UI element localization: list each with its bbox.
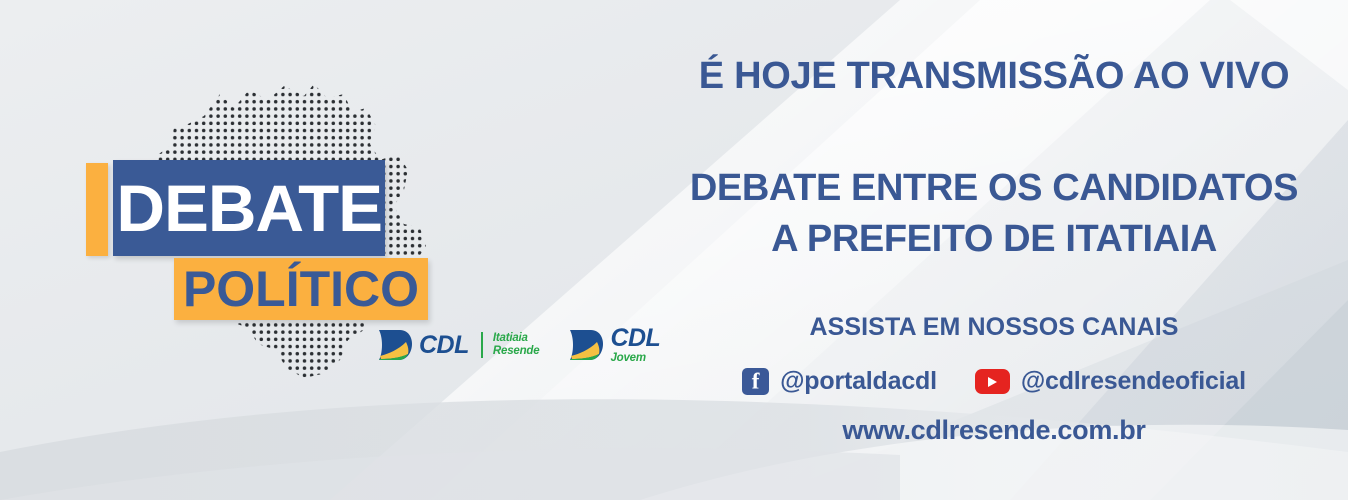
debate-title: DEBATE (116, 175, 382, 241)
headline-main-line1: DEBATE ENTRE OS CANDIDATOS (640, 163, 1348, 214)
orange-accent-bar (86, 163, 108, 256)
logo-divider (481, 332, 483, 358)
website-url[interactable]: www.cdlresende.com.br (640, 415, 1348, 446)
message-column: É HOJE TRANSMISSÃO AO VIVO DEBATE ENTRE … (640, 0, 1348, 500)
facebook-handle[interactable]: @portaldacdl (780, 367, 937, 396)
headline-main-line2: A PREFEITO DE ITATIAIA (640, 214, 1348, 265)
cdl-unit-line2: Resende (493, 345, 540, 358)
watch-call-to-action: ASSISTA EM NOSSOS CANAIS (640, 313, 1348, 342)
cdl-itatiaia-resende-logo[interactable]: CDL Itatiaia Resende (378, 328, 539, 362)
politico-subtitle: POLÍTICO (183, 264, 419, 314)
debate-logo-block: DEBATE POLÍTICO CDL Itatiaia Resende (0, 0, 640, 500)
cdl-flag-mark-icon (378, 328, 414, 362)
debate-title-band: DEBATE (113, 160, 385, 256)
headline-live: É HOJE TRANSMISSÃO AO VIVO (640, 56, 1348, 98)
youtube-handle[interactable]: @cdlresendeoficial (1021, 367, 1246, 396)
headline-main: DEBATE ENTRE OS CANDIDATOS A PREFEITO DE… (640, 163, 1348, 266)
cdl-wordmark: CDL (419, 333, 469, 358)
youtube-handle-item[interactable]: @cdlresendeoficial (975, 367, 1246, 396)
facebook-handle-item[interactable]: @portaldacdl (742, 367, 937, 396)
cdl-unit-line1: Itatiaia (493, 332, 528, 345)
youtube-icon[interactable] (975, 369, 1010, 394)
social-handles-row: @portaldacdl @cdlresendeoficial (640, 367, 1348, 396)
partner-logos: CDL Itatiaia Resende CDL Jovem (378, 326, 660, 365)
cdl-flag-mark-icon (569, 328, 605, 362)
politico-subtitle-band: POLÍTICO (174, 258, 428, 320)
facebook-icon[interactable] (742, 368, 769, 395)
